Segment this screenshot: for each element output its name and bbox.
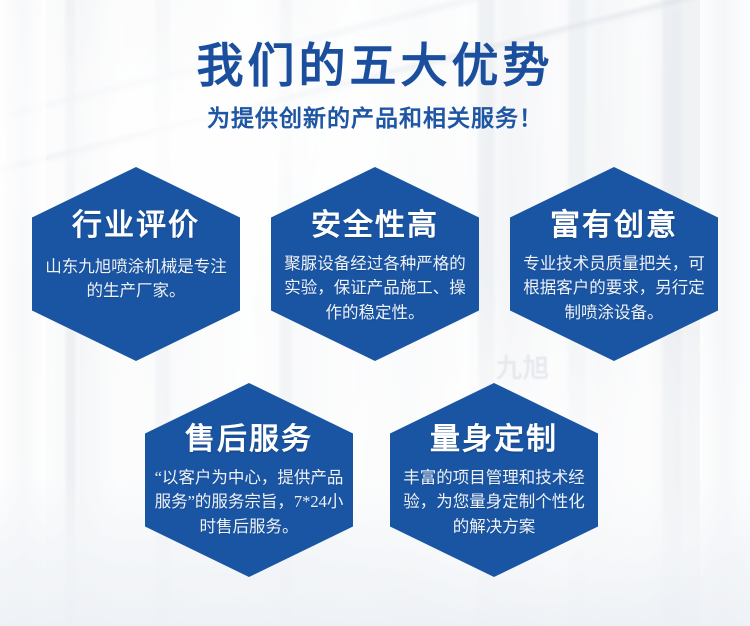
advantage-body: 聚脲设备经过各种严格的实验，保证产品施工、操作的稳定性。 (279, 241, 471, 325)
page-subtitle: 为提供创新的产品和相关服务！ (0, 93, 750, 131)
poster-header: 我们的五大优势 为提供创新的产品和相关服务！ (0, 0, 750, 131)
advantage-body: “以客户为中心，提供产品服务”的服务宗旨，7*24小时售后服务。 (153, 455, 345, 539)
advantage-body: 山东九旭喷涂机械是专注的生产厂家。 (40, 241, 232, 304)
page-title: 我们的五大优势 (0, 0, 750, 93)
advantage-body: 专业技术员质量把关，可根据客户的要求，另行定制喷涂设备。 (518, 241, 710, 325)
advantages-poster: 九旭 我们的五大优势 为提供创新的产品和相关服务！ 行业评价 山东九旭喷涂机械是… (0, 0, 750, 626)
advantage-body: 丰富的项目管理和技术经验，为您量身定制个性化的解决方案 (398, 455, 590, 539)
